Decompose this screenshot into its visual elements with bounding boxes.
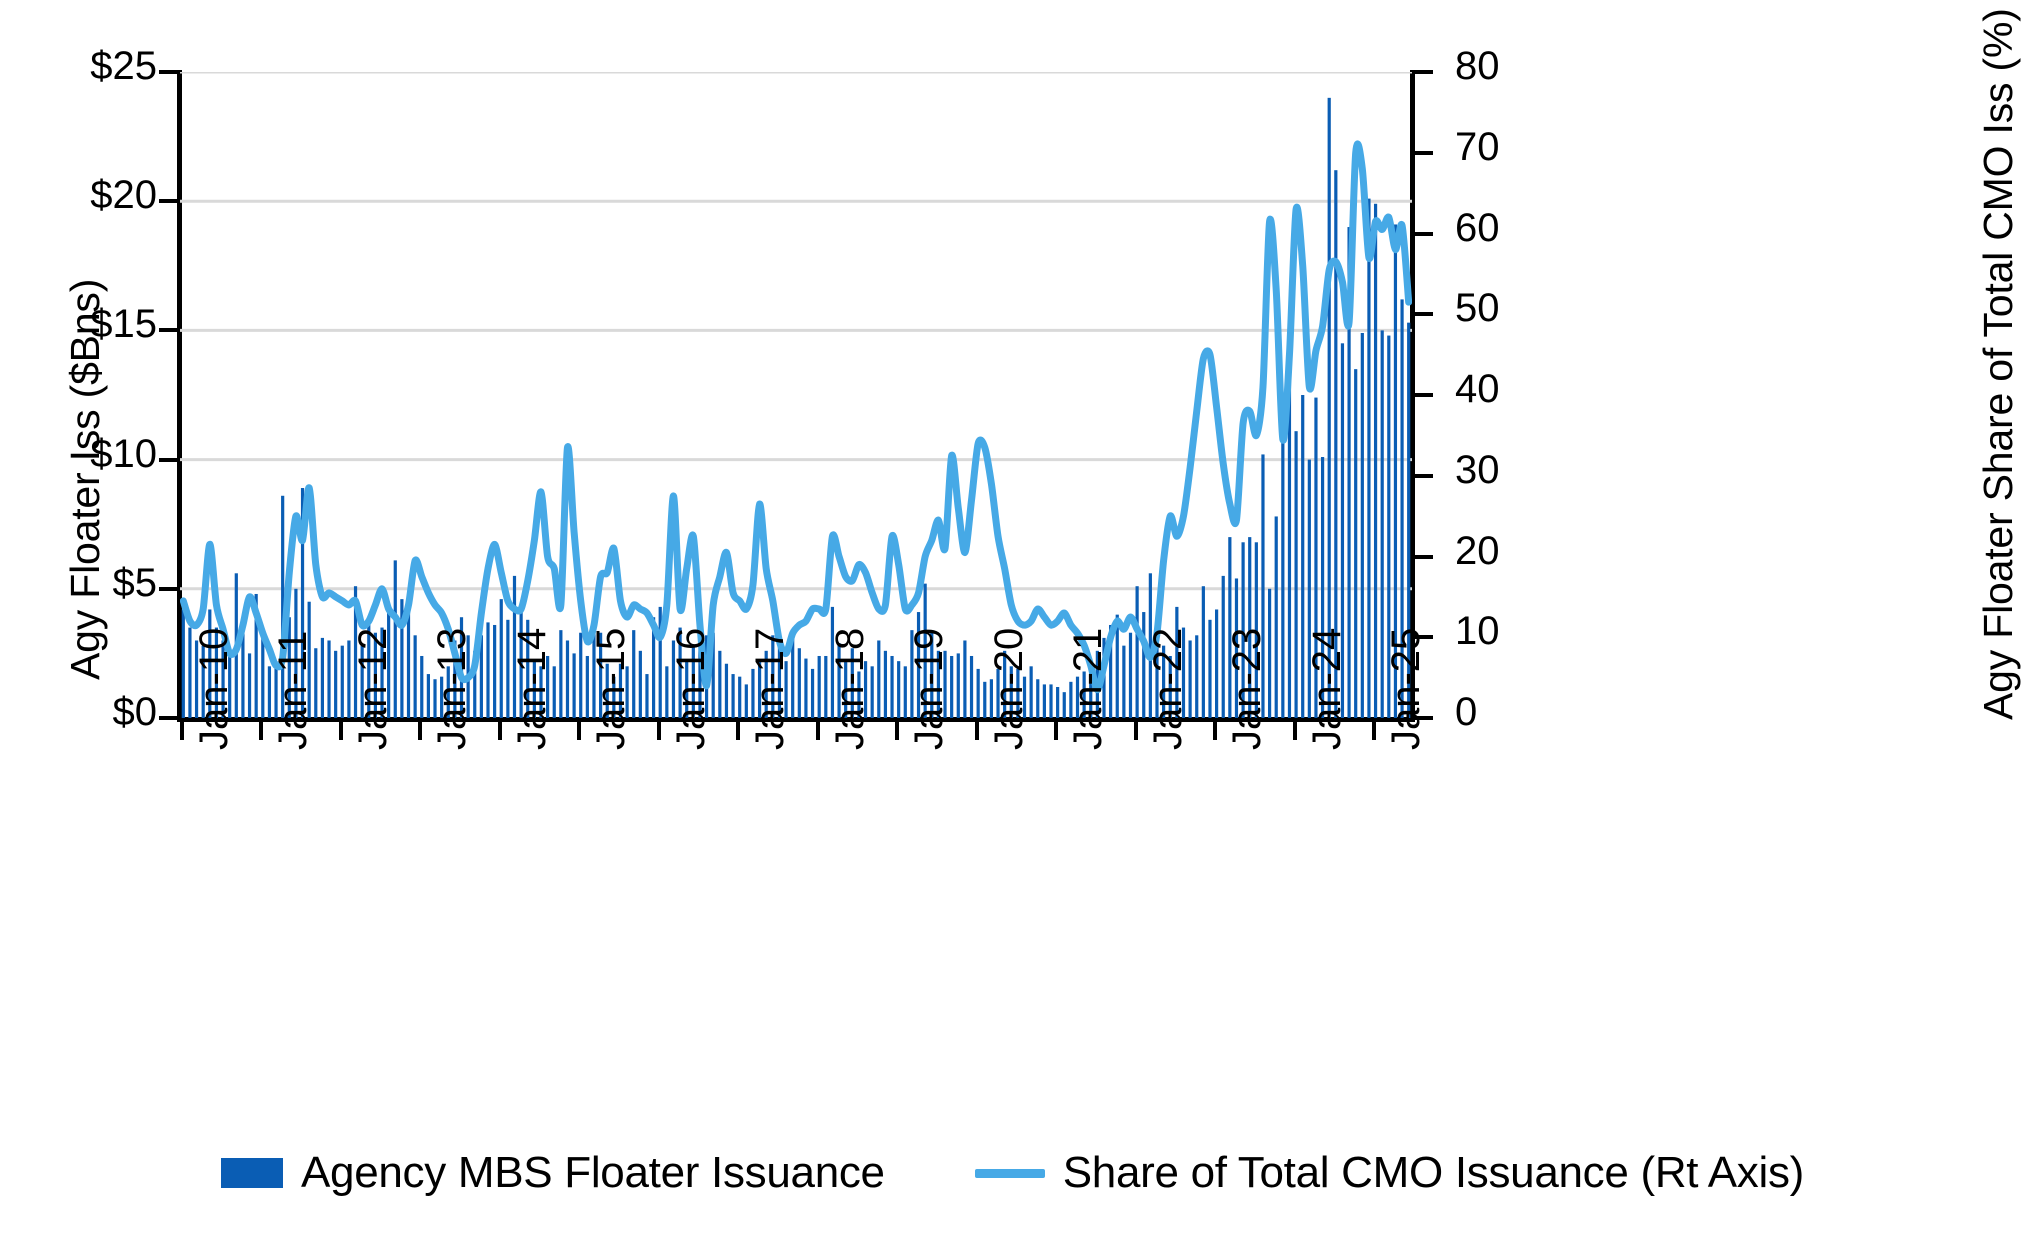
bar — [1043, 684, 1046, 718]
x-axis-tick-mark — [657, 722, 661, 740]
bar — [341, 646, 344, 718]
x-axis-tick-label: Jan-19 — [909, 628, 949, 750]
y-axis-left-tick-label: $15 — [90, 304, 157, 344]
y-axis-right-tick-mark — [1415, 393, 1433, 397]
chart-legend: Agency MBS Floater Issuance Share of Tot… — [0, 1138, 2025, 1208]
plot-area — [180, 72, 1412, 718]
bar — [1049, 684, 1052, 718]
x-axis-tick-mark — [1054, 722, 1058, 740]
x-axis-tick-mark — [816, 722, 820, 740]
bar — [506, 620, 509, 718]
x-axis-tick-mark — [418, 722, 422, 740]
x-axis-tick-mark — [895, 722, 899, 740]
bar — [884, 651, 887, 718]
y-axis-left-tick-label: $20 — [90, 175, 157, 215]
x-axis-tick-label: Jan-22 — [1148, 628, 1188, 750]
x-axis-tick-mark — [1134, 722, 1138, 740]
y-axis-right-tick-mark — [1415, 312, 1433, 316]
bar — [1208, 620, 1211, 718]
bar — [639, 651, 642, 718]
bar — [970, 656, 973, 718]
bar — [897, 661, 900, 718]
x-axis-tick-mark — [577, 722, 581, 740]
y-axis-left-tick-label: $25 — [90, 46, 157, 86]
legend-label-line: Share of Total CMO Issuance (Rt Axis) — [1063, 1148, 1804, 1198]
bar — [241, 633, 244, 718]
bar — [1122, 646, 1125, 718]
bar — [414, 635, 417, 718]
y-axis-left-tick-mark — [159, 328, 177, 332]
bar — [1142, 612, 1145, 718]
bar — [725, 664, 728, 718]
gridlines — [180, 72, 1412, 589]
x-axis-tick-label: Jan-13 — [432, 628, 472, 750]
y-axis-left-tick-mark — [159, 70, 177, 74]
bar — [327, 640, 330, 718]
y-axis-right-tick-label: 40 — [1455, 369, 1500, 409]
y-axis-right-tick-label: 20 — [1455, 531, 1500, 571]
x-axis-tick-label: Jan-15 — [591, 628, 631, 750]
x-axis-tick-label: Jan-23 — [1227, 628, 1267, 750]
bar — [957, 653, 960, 718]
y-axis-right-tick-label: 80 — [1455, 46, 1500, 86]
x-axis-tick-label: Jan-16 — [671, 628, 711, 750]
bar — [248, 653, 251, 718]
bar — [1281, 421, 1284, 718]
bar — [804, 659, 807, 718]
x-axis-tick-label: Jan-10 — [194, 628, 234, 750]
y-axis-left-tick-label: $10 — [90, 434, 157, 474]
y-axis-left-tick-label: $5 — [113, 563, 158, 603]
bar — [1036, 679, 1039, 718]
x-axis-tick-label: Jan-17 — [750, 628, 790, 750]
bar — [1361, 333, 1364, 718]
bar — [877, 640, 880, 718]
bar — [645, 674, 648, 718]
y-axis-right-tick-label: 60 — [1455, 208, 1500, 248]
x-axis-tick-mark — [498, 722, 502, 740]
x-axis-tick-label: Jan-20 — [989, 628, 1029, 750]
bar — [731, 674, 734, 718]
x-axis-tick-mark — [259, 722, 263, 740]
x-axis-tick-label: Jan-21 — [1068, 628, 1108, 750]
x-axis-tick-label: Jan-18 — [830, 628, 870, 750]
bar — [559, 630, 562, 718]
line-series-share-of-total-cmo-issuance — [183, 144, 1408, 690]
legend-bar-swatch-icon — [221, 1158, 283, 1188]
bar — [573, 653, 576, 718]
bar — [977, 669, 980, 718]
bar — [1056, 687, 1059, 718]
x-axis-tick-label: Jan-24 — [1307, 628, 1347, 750]
bar — [890, 656, 893, 718]
y-axis-right-tick-mark — [1415, 555, 1433, 559]
bar — [818, 656, 821, 718]
y-axis-right-tick-label: 10 — [1455, 611, 1500, 651]
x-axis-tick-mark — [180, 722, 184, 740]
x-axis-tick-label: Jan-14 — [512, 628, 552, 750]
bar — [566, 640, 569, 718]
y-axis-left-tick-label: $0 — [113, 692, 158, 732]
bar — [1328, 98, 1331, 718]
chart-svg — [180, 72, 1412, 718]
y-axis-title-right: Agy Floater Share of Total CMO Iss (%) — [1975, 8, 2022, 720]
x-axis-tick-label: Jan-25 — [1386, 628, 1426, 750]
bar — [1136, 586, 1139, 718]
bar — [1294, 431, 1297, 718]
x-axis-tick-label: Jan-11 — [273, 631, 313, 750]
y-axis-right-tick-label: 50 — [1455, 288, 1500, 328]
bar — [1195, 635, 1198, 718]
bar — [1374, 204, 1377, 718]
y-axis-left-tick-mark — [159, 199, 177, 203]
y-axis-left-tick-mark — [159, 587, 177, 591]
bar — [579, 633, 582, 718]
bar — [738, 677, 741, 718]
legend-item-bar[interactable]: Agency MBS Floater Issuance — [221, 1148, 885, 1198]
bar — [486, 622, 489, 718]
y-axis-right-tick-mark — [1415, 70, 1433, 74]
x-axis-tick-mark — [1293, 722, 1297, 740]
bar — [798, 648, 801, 718]
bar — [1367, 199, 1370, 718]
bar — [1354, 369, 1357, 718]
bar — [182, 609, 185, 718]
y-axis-right-tick-label: 30 — [1455, 450, 1500, 490]
x-axis-tick-mark — [339, 722, 343, 740]
y-axis-left-tick-mark — [159, 458, 177, 462]
bar — [963, 640, 966, 718]
x-axis-tick-mark — [1372, 722, 1376, 740]
bar — [1275, 516, 1278, 718]
bar — [1215, 609, 1218, 718]
chart-figure: Agy Floater Iss ($Bns) Agy Floater Share… — [0, 0, 2025, 1243]
bar — [718, 651, 721, 718]
bar — [1301, 395, 1304, 718]
bar — [500, 599, 503, 718]
x-axis-tick-mark — [975, 722, 979, 740]
y-axis-right-tick-mark — [1415, 474, 1433, 478]
bar — [665, 666, 668, 718]
x-axis-tick-mark — [736, 722, 740, 740]
x-axis-tick-label: Jan-12 — [353, 628, 393, 750]
bar — [321, 638, 324, 718]
legend-line-swatch-icon — [975, 1169, 1045, 1178]
bar — [1129, 633, 1132, 718]
bar — [811, 669, 814, 718]
legend-item-line[interactable]: Share of Total CMO Issuance (Rt Axis) — [975, 1148, 1804, 1198]
bar — [983, 682, 986, 718]
bar — [824, 656, 827, 718]
y-axis-right-tick-label: 0 — [1455, 692, 1477, 732]
x-axis-tick-mark — [1213, 722, 1217, 740]
bar — [1202, 586, 1205, 718]
bar — [493, 625, 496, 718]
y-axis-right-tick-mark — [1415, 232, 1433, 236]
y-axis-right-tick-label: 70 — [1455, 127, 1500, 167]
bar — [420, 656, 423, 718]
y-axis-right-tick-mark — [1415, 151, 1433, 155]
y-axis-left-tick-mark — [159, 716, 177, 720]
bar — [334, 651, 337, 718]
legend-label-bar: Agency MBS Floater Issuance — [301, 1148, 885, 1198]
